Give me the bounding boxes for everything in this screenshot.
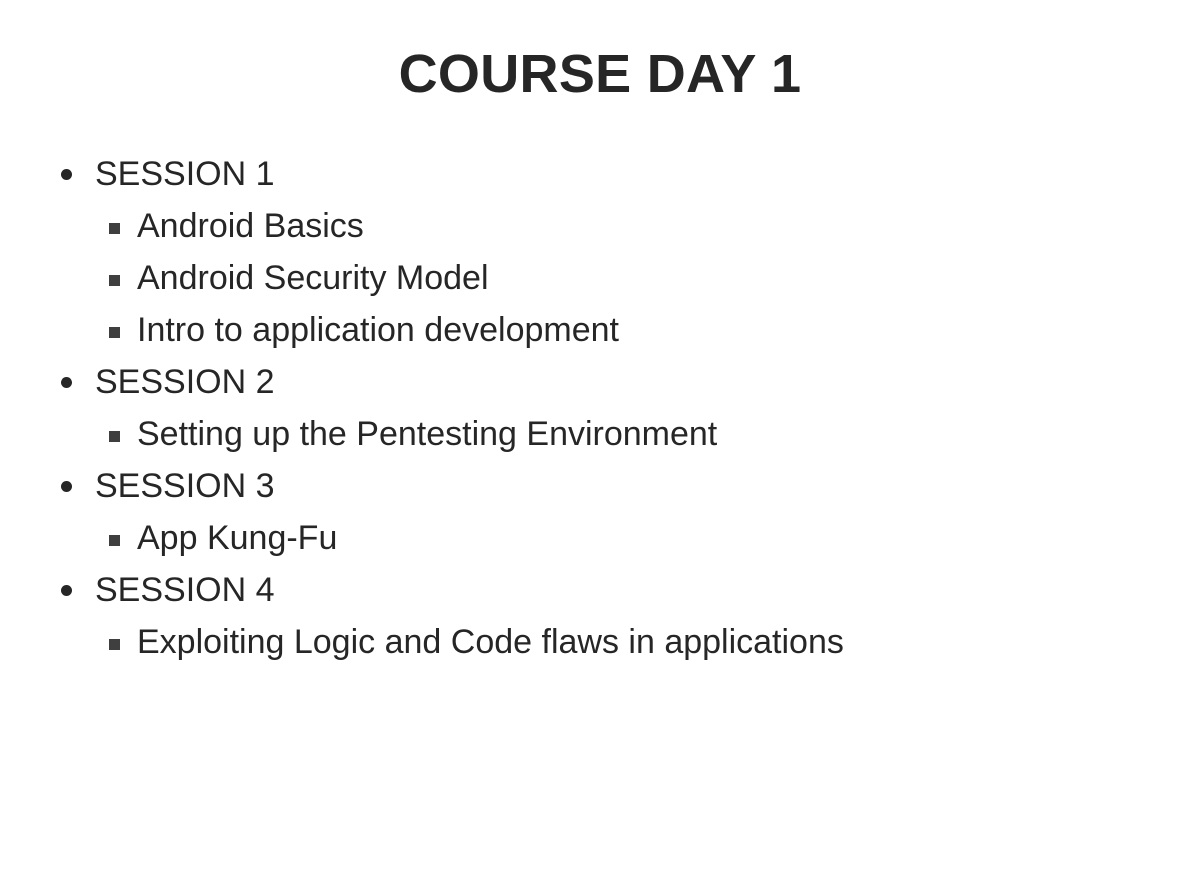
list-item-label: SESSION 4 — [95, 564, 275, 616]
list-item-label: Intro to application development — [137, 304, 619, 356]
list-item: Exploiting Logic and Code flaws in appli… — [0, 616, 1200, 668]
list-item-label: Android Security Model — [137, 252, 489, 304]
list-item-label: SESSION 1 — [95, 148, 275, 200]
list-item-label: SESSION 2 — [95, 356, 275, 408]
session-outline-list: SESSION 1 Android Basics Android Securit… — [0, 148, 1200, 668]
list-item: App Kung-Fu — [0, 512, 1200, 564]
list-item-label: SESSION 3 — [95, 460, 275, 512]
list-item: SESSION 1 — [0, 148, 1200, 200]
list-item: SESSION 4 — [0, 564, 1200, 616]
page-title: COURSE DAY 1 — [0, 47, 1200, 101]
list-item-label: Exploiting Logic and Code flaws in appli… — [137, 616, 844, 668]
list-item-label: Android Basics — [137, 200, 364, 252]
list-item: Setting up the Pentesting Environment — [0, 408, 1200, 460]
list-item: Intro to application development — [0, 304, 1200, 356]
list-item: Android Basics — [0, 200, 1200, 252]
list-item: SESSION 2 — [0, 356, 1200, 408]
list-item: SESSION 3 — [0, 460, 1200, 512]
slide-canvas: COURSE DAY 1 SESSION 1 Android Basics An… — [0, 0, 1200, 891]
list-item-label: App Kung-Fu — [137, 512, 337, 564]
list-item-label: Setting up the Pentesting Environment — [137, 408, 717, 460]
list-item: Android Security Model — [0, 252, 1200, 304]
